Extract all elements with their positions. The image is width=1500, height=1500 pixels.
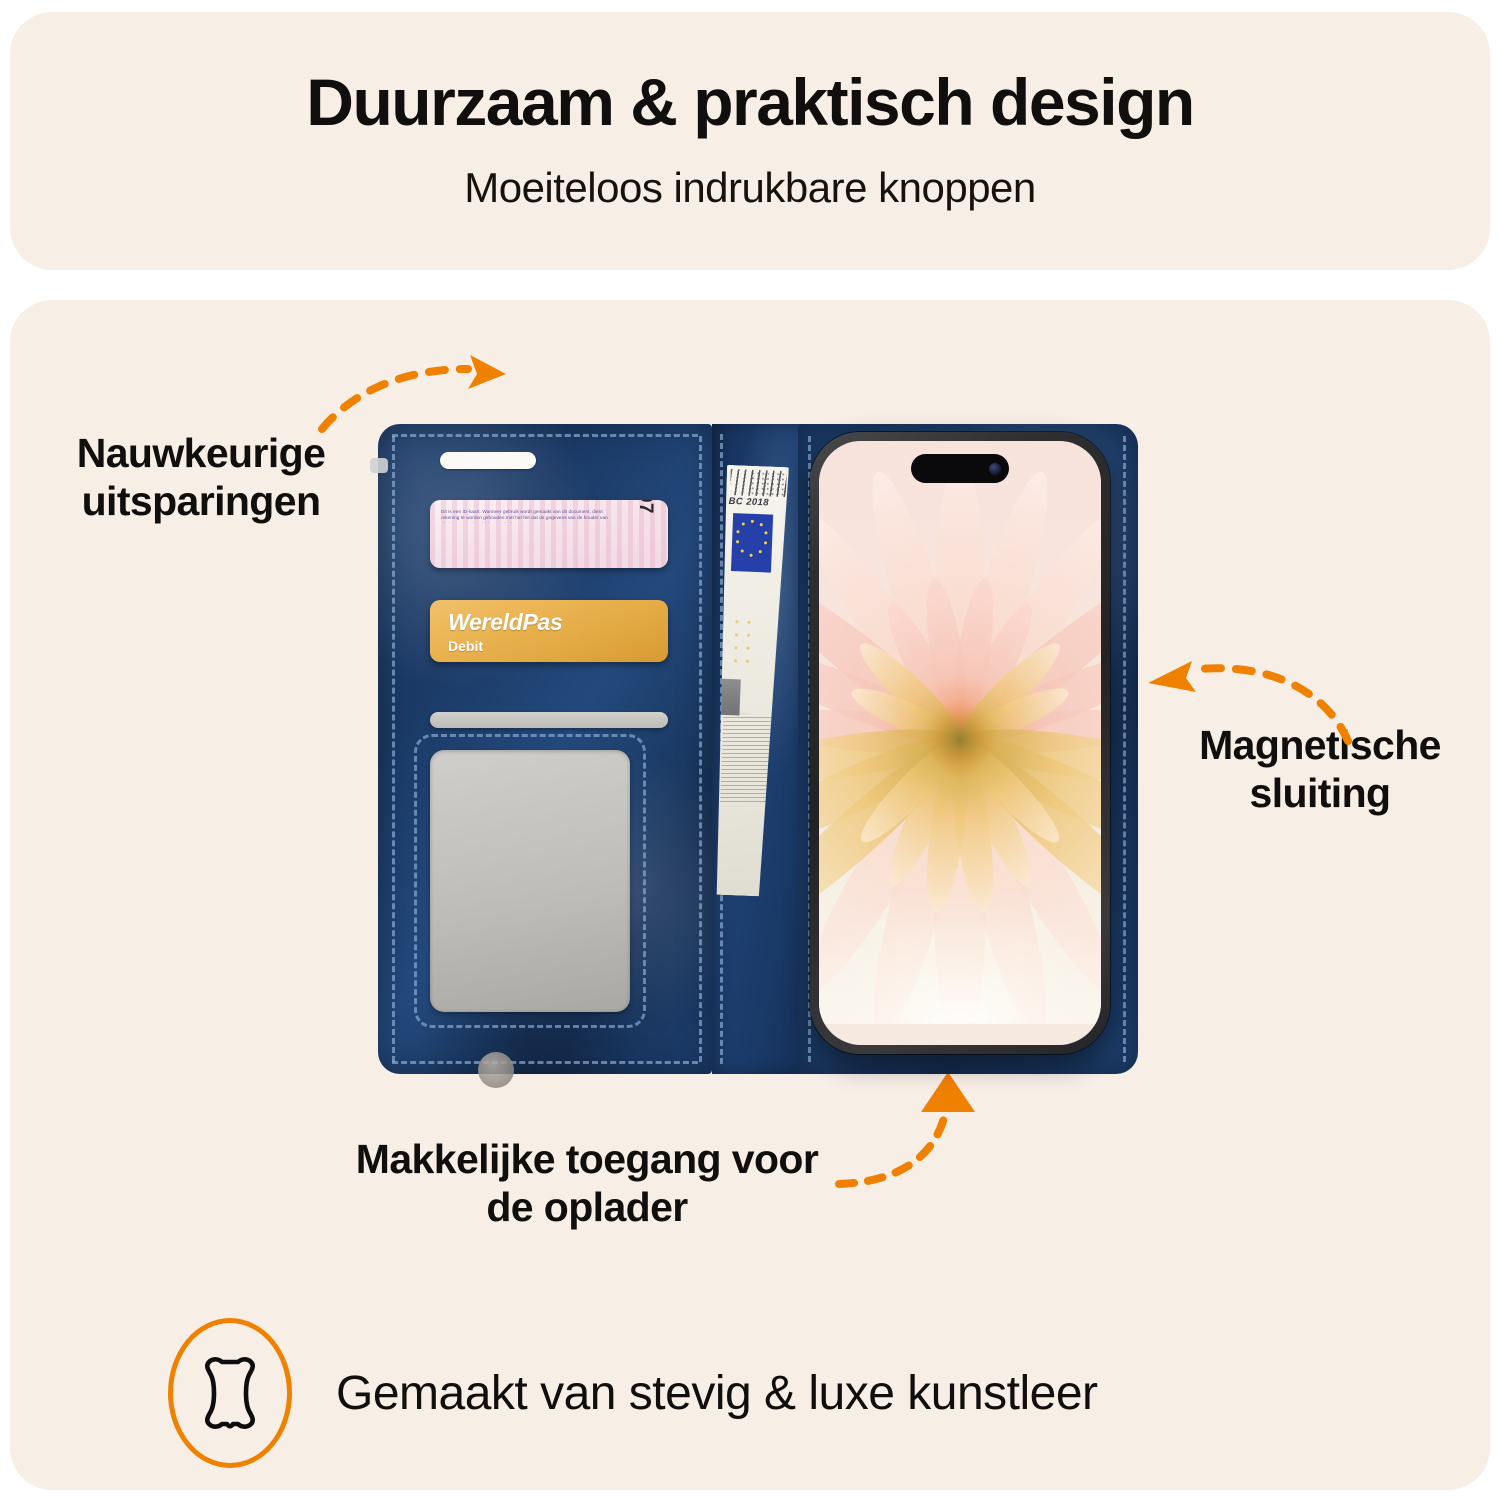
bank-card-type: Debit [448, 638, 483, 654]
id-card-thumb-cutout [478, 1052, 514, 1088]
callout-label-cutouts: Nauwkeurige uitsparingen [36, 430, 366, 525]
footer-material-row: Gemaakt van stevig & luxe kunstleer [168, 1318, 1098, 1468]
leather-hide-icon [168, 1318, 292, 1468]
id-window-pocket [430, 750, 630, 1012]
stitch-left [392, 436, 395, 1062]
infographic-stage: Duurzaam & praktisch design Moeiteloos i… [0, 0, 1500, 1500]
banknote-gold-dots [729, 615, 759, 666]
leather-hide-glyph [193, 1353, 267, 1433]
banknote-engraving-lines [720, 713, 771, 805]
id-card: Dit is een ID-kaart. Wanneer gebruik wor… [430, 500, 668, 568]
floral-wallpaper [819, 441, 1101, 1024]
callout-label-charger: Makkelijke toegang voor de oplader [352, 1136, 822, 1231]
page-title: Duurzaam & praktisch design [10, 68, 1490, 137]
front-camera-icon [989, 463, 1001, 475]
smartphone [810, 432, 1110, 1054]
header-card: Duurzaam & praktisch design Moeiteloos i… [10, 12, 1490, 270]
wallet-left-flap: Dit is een ID-kaart. Wanneer gebruik wor… [378, 424, 712, 1074]
callout-label-magnetic: Magnetische sluiting [1155, 722, 1485, 817]
banknote-label: BC 2018 [728, 496, 769, 509]
bank-card: WereldPas Debit [430, 600, 668, 662]
page-subtitle: Moeiteloos indrukbare knoppen [10, 164, 1490, 212]
card-slot-bar [430, 712, 668, 728]
wallet-phone-case: Dit is een ID-kaart. Wanneer gebruik wor… [378, 424, 1138, 1074]
dynamic-island [911, 454, 1009, 483]
footer-material-text: Gemaakt van stevig & luxe kunstleer [336, 1366, 1098, 1421]
id-card-fine-print: Dit is een ID-kaart. Wanneer gebruik wor… [441, 509, 613, 523]
stitch-bottom [392, 1061, 698, 1064]
id-card-number: 797 [634, 500, 656, 514]
banknote-dot-pattern [750, 471, 787, 496]
eu-flag-icon [731, 513, 773, 572]
stitch-right [699, 436, 702, 1062]
bank-card-edge-cutout [370, 458, 388, 473]
phone-screen [819, 441, 1101, 1045]
stitch-top [392, 434, 698, 437]
speaker-cutout [440, 452, 536, 469]
stitch-right-outer [1123, 436, 1126, 1062]
bank-card-name: WereldPas [448, 609, 563, 636]
